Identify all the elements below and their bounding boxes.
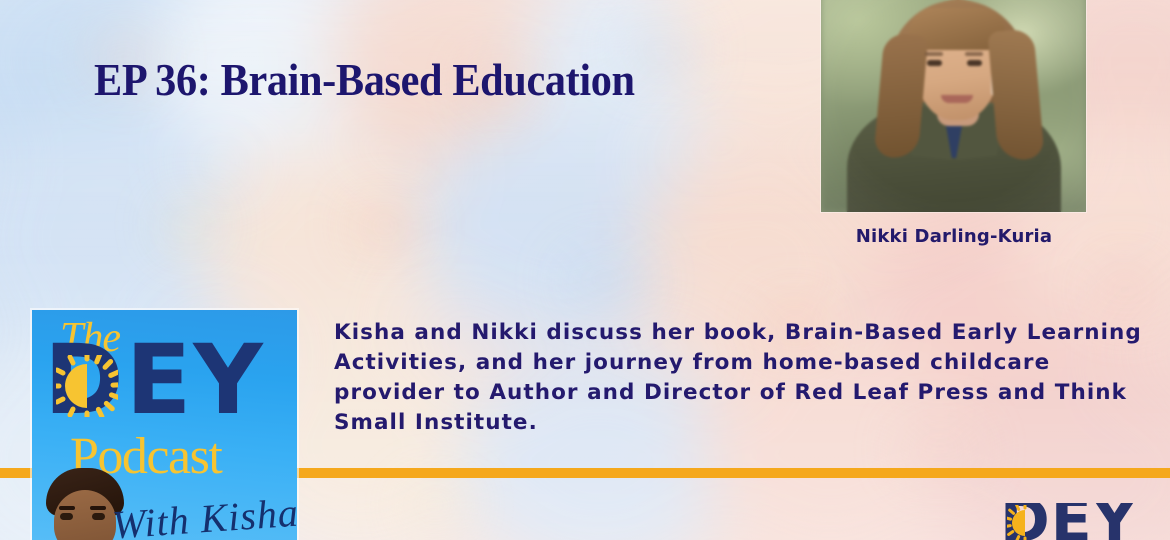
host-eye-right xyxy=(92,513,105,520)
guest-headshot-photo xyxy=(821,0,1086,212)
host-signature-label: With Kisha Reid xyxy=(111,482,297,540)
podcast-cover-art: The DEY Podcast xyxy=(32,310,297,540)
episode-description: Kisha and Nikki discuss her book, Brain-… xyxy=(334,318,1152,438)
photo-vignette xyxy=(821,0,1086,212)
sun-icon xyxy=(56,355,118,417)
episode-title: EP 36: Brain-Based Education xyxy=(94,54,635,106)
dey-brand-logo: DEY xyxy=(1000,503,1170,540)
sun-icon xyxy=(1007,505,1043,540)
host-brow-left xyxy=(59,506,75,510)
host-brow-right xyxy=(90,506,106,510)
episode-promo-graphic: EP 36: Brain-Based Education Nikki Darli… xyxy=(0,0,1170,540)
host-eye-left xyxy=(60,513,73,520)
guest-name-label: Nikki Darling-Kuria xyxy=(821,226,1087,247)
